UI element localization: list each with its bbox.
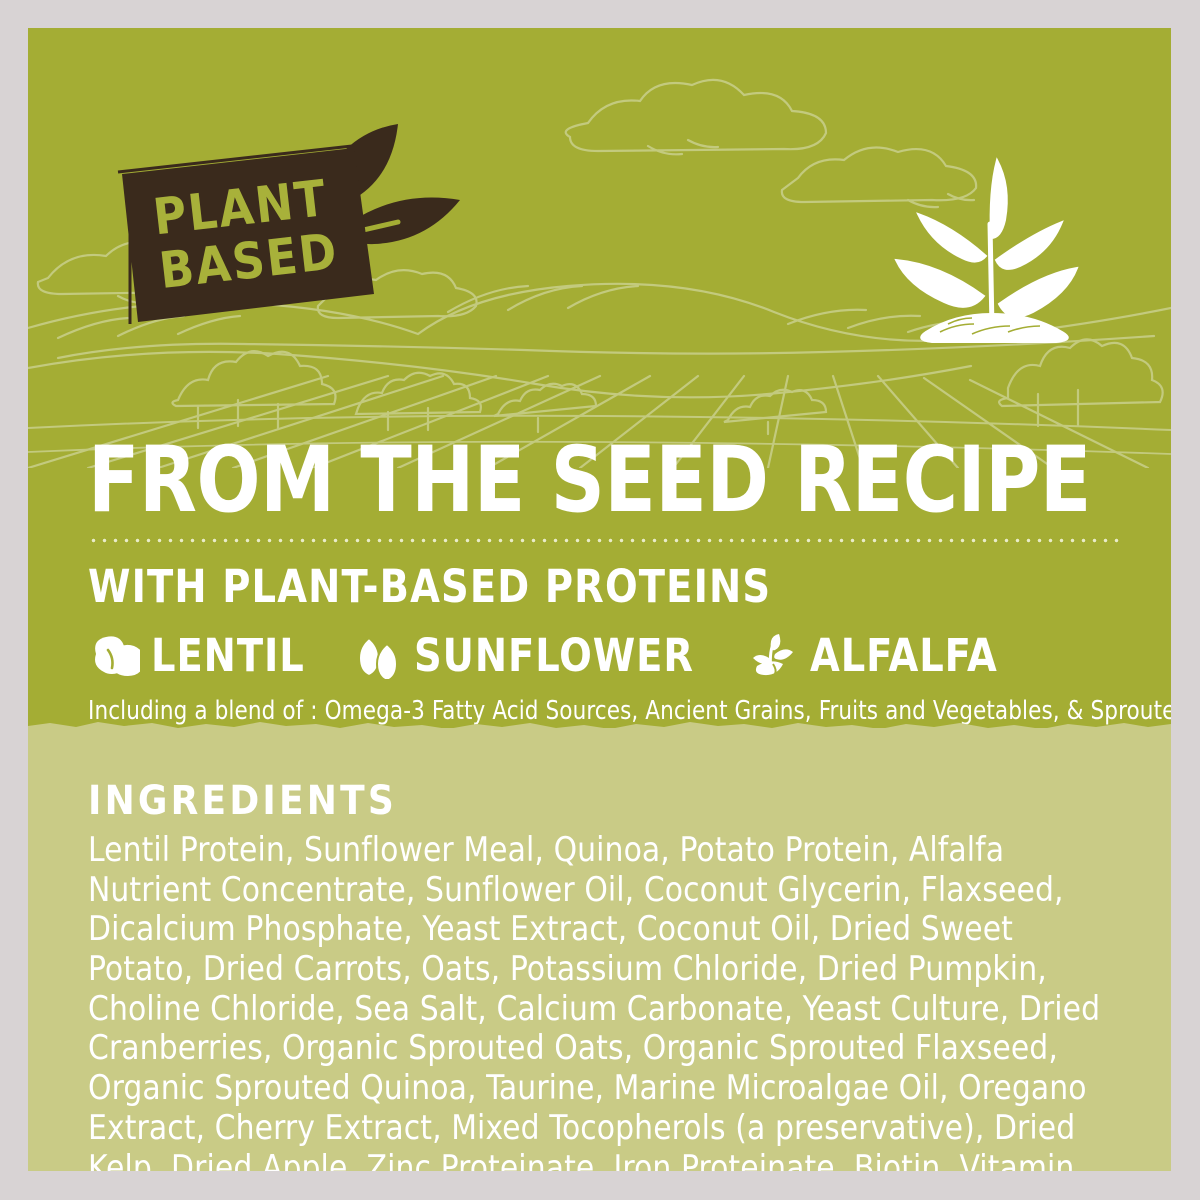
protein-label: ALFALFA	[810, 629, 998, 682]
hero-panel: PLANT BASED FROM THE SEED RECIPE WITH PL…	[28, 28, 1171, 728]
page-title: FROM THE SEED RECIPE	[88, 438, 1048, 524]
sunflower-seed-icon	[351, 632, 403, 679]
protein-label: LENTIL	[151, 629, 305, 682]
protein-item-alfalfa: ALFALFA	[747, 629, 1008, 682]
lentil-bean-icon	[88, 632, 140, 679]
plant-based-badge: PLANT BASED	[108, 116, 468, 346]
ingredients-heading: INGREDIENTS	[88, 778, 1111, 824]
label-panel: PLANT BASED FROM THE SEED RECIPE WITH PL…	[28, 28, 1171, 1171]
ingredients-panel: INGREDIENTS Lentil Protein, Sunflower Me…	[28, 728, 1171, 1171]
protein-item-sunflower: SUNFLOWER	[351, 629, 709, 682]
protein-label: SUNFLOWER	[414, 629, 694, 682]
protein-item-lentil: LENTIL	[88, 629, 313, 682]
protein-list: LENTIL SUNFLOWER	[88, 629, 1131, 682]
subtitle: WITH PLANT-BASED PROTEINS	[88, 560, 1079, 613]
torn-edge-divider	[28, 716, 1171, 728]
seedling-plant	[896, 160, 1077, 342]
alfalfa-sprout-icon	[747, 632, 799, 679]
dotted-divider	[88, 538, 1123, 543]
ingredients-text: Lentil Protein, Sunflower Meal, Quinoa, …	[88, 830, 1101, 1171]
